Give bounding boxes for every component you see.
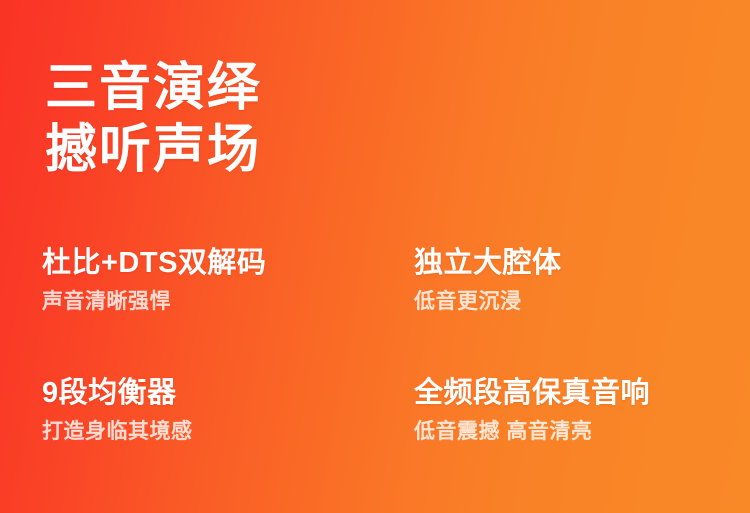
hero-title-line-1: 三音演绎 — [45, 57, 475, 119]
feature-title: 独立大腔体 — [414, 246, 750, 280]
feature-subtitle: 低音更沉浸 — [414, 289, 750, 315]
feature-grid: 杜比+DTS双解码 声音清晰强悍 独立大腔体 低音更沉浸 9段均衡器 打造身临其… — [0, 246, 750, 506]
promo-banner: 三音演绎 撼听声场 杜比+DTS双解码 声音清晰强悍 独立大腔体 低音更沉浸 9… — [0, 0, 750, 513]
feature-item-dolby-dts: 杜比+DTS双解码 声音清晰强悍 — [0, 246, 373, 376]
feature-subtitle: 声音清晰强悍 — [42, 289, 373, 315]
feature-subtitle: 低音震撼 高音清亮 — [414, 419, 750, 445]
feature-subtitle: 打造身临其境感 — [42, 419, 373, 445]
hero-title-line-2: 撼听声场 — [45, 119, 475, 181]
feature-title: 全频段高保真音响 — [414, 376, 750, 410]
feature-title: 杜比+DTS双解码 — [42, 246, 373, 280]
feature-item-full-range-hifi: 全频段高保真音响 低音震撼 高音清亮 — [373, 376, 750, 506]
feature-title: 9段均衡器 — [42, 376, 373, 410]
hero-title: 三音演绎 撼听声场 — [45, 57, 475, 181]
feature-item-large-cavity: 独立大腔体 低音更沉浸 — [373, 246, 750, 376]
feature-item-equalizer: 9段均衡器 打造身临其境感 — [0, 376, 373, 506]
